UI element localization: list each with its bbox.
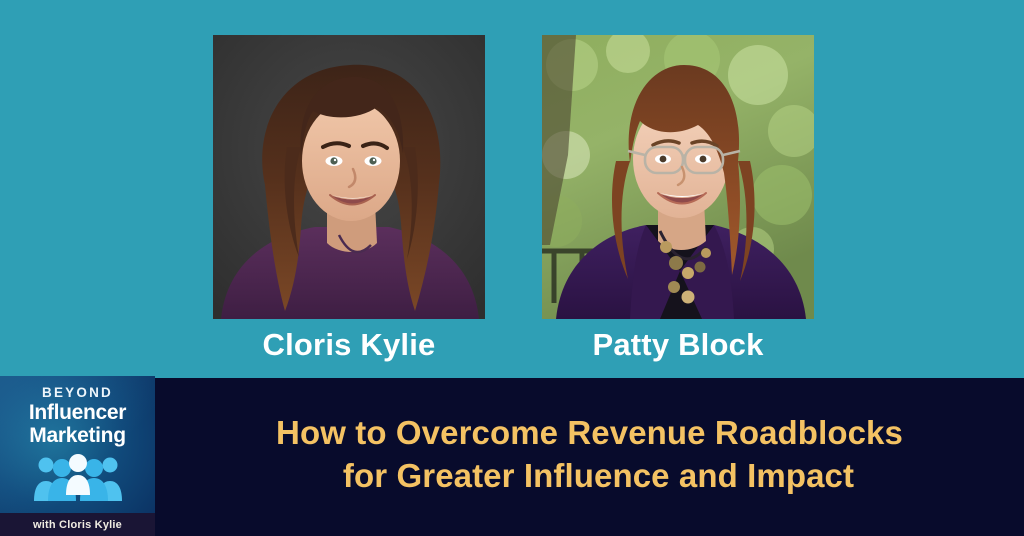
episode-title-line-1: How to Overcome Revenue Roadblocks [276, 411, 903, 454]
speaker-name-left: Cloris Kylie [213, 325, 485, 365]
logo-host-text: with Cloris Kylie [33, 519, 122, 531]
speaker-name-right: Patty Block [542, 325, 814, 365]
logo-influencer-text: Influencer [29, 401, 126, 424]
people-group-icon-svg [30, 451, 126, 501]
episode-title: How to Overcome Revenue Roadblocks for G… [155, 378, 1024, 536]
headshot-cloris-kylie-illustration [213, 35, 485, 319]
logo-beyond-text: BEYOND [42, 384, 113, 401]
logo-content: BEYOND Influencer Marketing [0, 376, 155, 513]
podcast-logo-badge: BEYOND Influencer Marketing [0, 376, 155, 536]
speaker-photo-patty-block [542, 35, 814, 319]
episode-title-line-2: for Greater Influence and Impact [325, 454, 854, 497]
speaker-photo-cloris-kylie [213, 35, 485, 319]
logo-host-bar: with Cloris Kylie [0, 513, 155, 536]
people-group-icon [30, 451, 126, 501]
podcast-cover-canvas: Cloris Kylie [0, 0, 1024, 536]
headshot-patty-block-illustration [542, 35, 814, 319]
logo-marketing-text: Marketing [29, 424, 126, 447]
